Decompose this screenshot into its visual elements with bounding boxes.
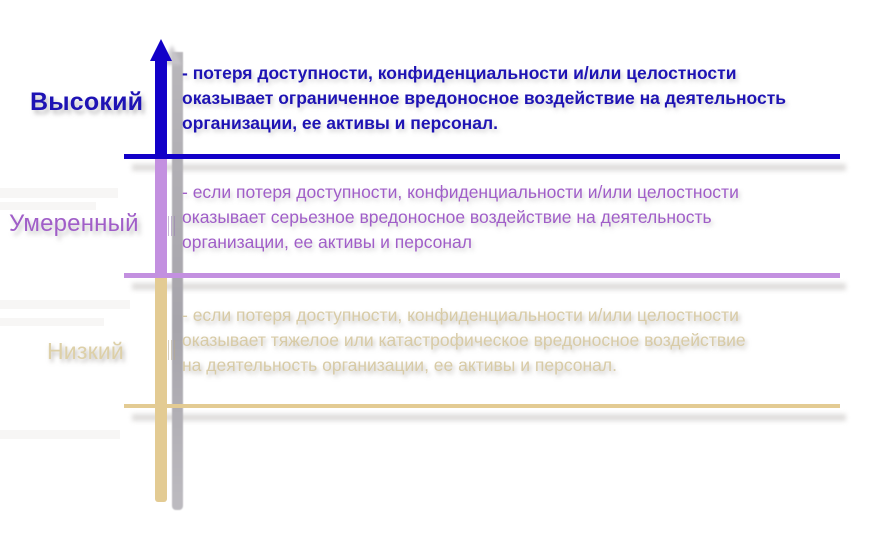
level-label-low: Низкий — [47, 338, 124, 365]
background-smudge — [0, 202, 96, 210]
level-description-moderate: - если потеря доступности, конфиденциаль… — [182, 180, 878, 255]
divider-moderate — [124, 273, 840, 278]
axis-segment-low — [155, 276, 167, 502]
axis-segment-high — [155, 58, 167, 158]
divider-low — [124, 404, 840, 408]
divider-shadow — [132, 164, 846, 171]
impact-levels-slide: Высокий Умеренный Низкий - потеря доступ… — [0, 0, 878, 548]
axis-tick-moderate — [168, 216, 175, 236]
background-smudge — [0, 430, 120, 439]
axis-tick-low — [168, 340, 175, 360]
background-smudge — [0, 318, 104, 326]
background-smudge — [0, 188, 118, 198]
level-description-low: - если потеря доступности, конфиденциаль… — [182, 303, 878, 378]
level-description-high: - потеря доступности, конфиденциальности… — [182, 61, 878, 136]
axis-segment-moderate — [155, 156, 167, 278]
level-label-moderate: Умеренный — [9, 210, 139, 238]
level-label-high: Высокий — [30, 88, 143, 117]
divider-shadow — [132, 414, 846, 421]
divider-high — [124, 154, 840, 159]
divider-shadow — [132, 283, 846, 290]
background-smudge — [0, 300, 130, 309]
